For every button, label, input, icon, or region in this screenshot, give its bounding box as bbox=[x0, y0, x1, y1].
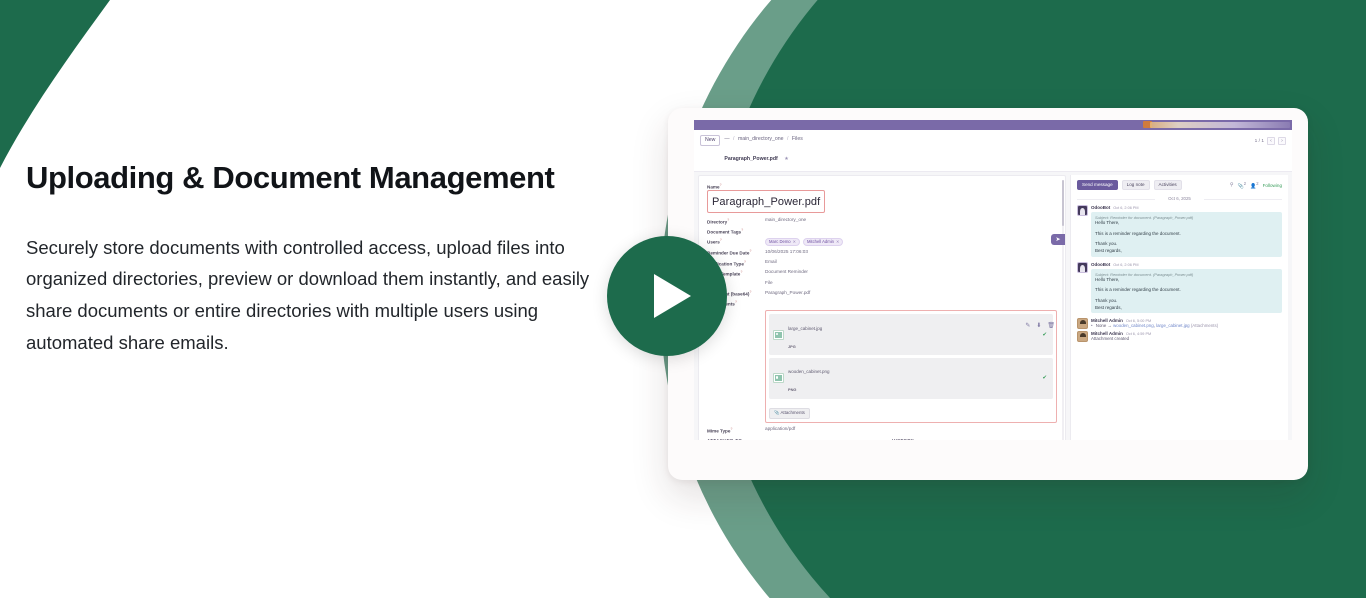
field-value-reminder-due-date[interactable]: 10/06/2025 17:06:03 bbox=[765, 249, 1057, 254]
field-value-notification-type[interactable]: Email bbox=[765, 259, 1057, 264]
label-text: Document Tags bbox=[707, 230, 741, 235]
play-button[interactable] bbox=[607, 236, 727, 356]
breadcrumb: — / main_directory_one / Files Paragraph… bbox=[724, 135, 802, 167]
field-value-document-base64[interactable]: Paragraph_Power.pdf bbox=[765, 290, 1057, 295]
log-text: Attachment created bbox=[1091, 336, 1282, 341]
close-icon[interactable]: ✕ bbox=[836, 239, 839, 244]
label-text: Reminder Due Date bbox=[707, 251, 749, 256]
chatter-panel: Send message Log note Activities ⚲ 📎2 👤2… bbox=[1070, 175, 1288, 440]
avatar[interactable] bbox=[1077, 262, 1088, 273]
field-row-users: Users? Marc Demo ✕ Mitchell Admin ✕ bbox=[707, 238, 1057, 246]
bullet-icon: • bbox=[1091, 323, 1093, 328]
message-body: OdooBot Oct 6, 2:06 PM Subject: Reminder… bbox=[1091, 262, 1282, 314]
attachment-item[interactable]: wooden_cabinet.png PNG ✔ bbox=[769, 358, 1053, 399]
chatter-message: OdooBot Oct 6, 2:06 PM Subject: Reminder… bbox=[1077, 205, 1282, 257]
arrow-icon: → bbox=[1108, 323, 1112, 328]
attachment-name: wooden_cabinet.png bbox=[788, 369, 830, 374]
chatter-tools: ⚲ 📎2 👤2 Following bbox=[1230, 181, 1282, 190]
attachment-name: large_cabinet.jpg bbox=[788, 326, 822, 331]
scrollbar-thumb[interactable] bbox=[1062, 180, 1064, 226]
search-icon[interactable]: ⚲ bbox=[1230, 182, 1234, 188]
user-tag-label: Marc Demo bbox=[769, 239, 791, 244]
message-timestamp: Oct 6, 2:06 PM bbox=[1113, 206, 1138, 210]
form-fields: Name? Paragraph_Power.pdf Directory? mai… bbox=[699, 176, 1065, 440]
message-timestamp: Oct 6, 2:06 PM bbox=[1113, 263, 1138, 267]
sheet-scrollbar[interactable] bbox=[1062, 180, 1064, 440]
add-attachments-button[interactable]: 📎 Attachments bbox=[769, 408, 810, 419]
paperclip-icon: 📎 bbox=[774, 410, 779, 415]
name-label-text: Name bbox=[707, 184, 720, 189]
attachment-type: PNG bbox=[788, 387, 796, 392]
field-label-directory: Directory? bbox=[707, 217, 765, 224]
message-header: OdooBot Oct 6, 2:06 PM bbox=[1091, 205, 1282, 210]
field-row-type: Type? File bbox=[707, 280, 1057, 287]
new-button[interactable]: New bbox=[700, 135, 720, 146]
followers-icon[interactable]: 👤2 bbox=[1250, 181, 1259, 190]
field-row-mime-type: Mime Type? application/pdf bbox=[707, 426, 1057, 433]
user-tag-label: Mitchell Admin bbox=[807, 239, 834, 244]
activities-button[interactable]: Activities bbox=[1154, 180, 1182, 191]
followers-count: 2 bbox=[1256, 181, 1258, 186]
user-tag-list: Marc Demo ✕ Mitchell Admin ✕ bbox=[765, 238, 1057, 246]
breadcrumb-dash: — bbox=[724, 136, 729, 142]
promo-copy: Uploading & Document Management Securely… bbox=[26, 160, 626, 359]
chatter-log-entry: Mitchell Admin Oct 6, 4:59 PM Attachment… bbox=[1077, 331, 1282, 342]
field-value-mime-type: application/pdf bbox=[765, 426, 1057, 431]
form-body: ➤ Name? Paragraph_Power.pdf Directory? m… bbox=[694, 172, 1292, 440]
field-row-reminder-due-date: Reminder Due Date? 10/06/2025 17:06:03 bbox=[707, 249, 1057, 256]
promo-description: Securely store documents with controlled… bbox=[26, 232, 606, 359]
avatar[interactable] bbox=[1077, 331, 1088, 342]
breadcrumb-item-files[interactable]: Files bbox=[792, 136, 803, 142]
message-body: Mitchell Admin Oct 6, 5:00 PM • None → w… bbox=[1091, 318, 1282, 329]
form-sheet: ➤ Name? Paragraph_Power.pdf Directory? m… bbox=[698, 175, 1066, 440]
attachment-meta: wooden_cabinet.png PNG bbox=[788, 360, 830, 396]
label-text: Mime Type bbox=[707, 428, 730, 433]
field-label-reminder-due-date: Reminder Due Date? bbox=[707, 249, 765, 256]
odoo-app-screenshot: New — / main_directory_one / Files Parag… bbox=[694, 120, 1292, 440]
message-bubble: Subject: Reminder for document. (Paragra… bbox=[1091, 212, 1282, 257]
page-title: Uploading & Document Management bbox=[26, 160, 626, 196]
attachment-count: 2 bbox=[1244, 181, 1246, 186]
paperclip-icon[interactable]: 📎2 bbox=[1238, 181, 1247, 190]
attachments-list: large_cabinet.jpg JPG ✔ wooden_cabinet.p… bbox=[765, 310, 1057, 423]
form-bottom-columns: ATTACHED TO Resource Model? Resource Fie… bbox=[707, 438, 1057, 440]
field-value-users: Marc Demo ✕ Mitchell Admin ✕ bbox=[765, 238, 1057, 246]
label-text: Directory bbox=[707, 219, 727, 224]
field-row-document-tags: Document Tags? bbox=[707, 227, 1057, 234]
play-triangle-icon bbox=[654, 274, 691, 318]
pager-count: 1 / 1 bbox=[1255, 139, 1264, 144]
message-author: OdooBot bbox=[1091, 262, 1110, 267]
document-actions: ✎ ⬇ 🗑 bbox=[1025, 322, 1055, 329]
check-icon: ✔ bbox=[1042, 375, 1047, 381]
attachment-link[interactable]: large_cabinet.jpg bbox=[1156, 323, 1189, 328]
star-icon[interactable]: ★ bbox=[784, 156, 788, 162]
field-value-email-template[interactable]: Document Reminder bbox=[765, 269, 1057, 274]
history-title: HISTORY bbox=[892, 438, 1057, 440]
field-row-email-template: Email Template? Document Reminder bbox=[707, 269, 1057, 276]
attachment-item[interactable]: large_cabinet.jpg JPG ✔ bbox=[769, 314, 1053, 355]
field-row-directory: Directory? main_directory_one bbox=[707, 217, 1057, 224]
field-row-attachments: Attachments? bbox=[707, 300, 1057, 307]
edit-icon[interactable]: ✎ bbox=[1025, 322, 1030, 329]
field-label-document-tags: Document Tags? bbox=[707, 227, 765, 234]
message-body: Mitchell Admin Oct 6, 4:59 PM Attachment… bbox=[1091, 331, 1282, 342]
field-value-directory[interactable]: main_directory_one bbox=[765, 217, 1057, 222]
send-message-button[interactable]: Send message bbox=[1077, 180, 1118, 191]
chatter-message: OdooBot Oct 6, 2:06 PM Subject: Reminder… bbox=[1077, 262, 1282, 314]
chatter-toolbar: Send message Log note Activities ⚲ 📎2 👤2… bbox=[1077, 180, 1282, 191]
image-file-icon bbox=[773, 330, 784, 340]
breadcrumb-item-directory[interactable]: main_directory_one bbox=[738, 136, 784, 142]
add-attachments-label: Attachments bbox=[780, 410, 804, 415]
navbar-right-region bbox=[1150, 122, 1290, 128]
message-timestamp: Oct 6, 4:59 PM bbox=[1126, 332, 1151, 336]
control-panel: New — / main_directory_one / Files Parag… bbox=[694, 130, 1292, 172]
delete-icon[interactable]: 🗑 bbox=[1047, 322, 1055, 329]
log-note-button[interactable]: Log note bbox=[1122, 180, 1150, 191]
log-tracking-line: • None → wooden_cabinet.png, large_cabin… bbox=[1091, 323, 1282, 328]
user-tag[interactable]: Mitchell Admin ✕ bbox=[803, 238, 843, 246]
history-section: HISTORY Creation? mitchell admin on 10/0… bbox=[882, 438, 1057, 440]
link-separator: , bbox=[1154, 323, 1155, 328]
avatar[interactable] bbox=[1077, 205, 1088, 216]
log-prefix: None bbox=[1096, 323, 1107, 328]
share-icon[interactable]: ➤ bbox=[1051, 234, 1065, 245]
download-icon[interactable]: ⬇ bbox=[1036, 322, 1041, 329]
message-line: Best regards, bbox=[1095, 305, 1278, 310]
chatter-log-entry: Mitchell Admin Oct 6, 5:00 PM • None → w… bbox=[1077, 318, 1282, 329]
pager-next-button[interactable]: › bbox=[1278, 137, 1286, 145]
chatter-date-divider: Oct 6, 2025 bbox=[1077, 196, 1282, 201]
image-file-icon bbox=[773, 373, 784, 383]
breadcrumb-separator-1: / bbox=[733, 136, 734, 142]
record-name: Paragraph_Power.pdf bbox=[724, 156, 777, 162]
field-label-users: Users? bbox=[707, 238, 765, 245]
message-body: OdooBot Oct 6, 2:06 PM Subject: Reminder… bbox=[1091, 205, 1282, 257]
attached-to-title: ATTACHED TO bbox=[707, 438, 882, 440]
check-icon: ✔ bbox=[1042, 332, 1047, 338]
message-line: Best regards, bbox=[1095, 248, 1278, 253]
breadcrumb-path: — / main_directory_one / Files bbox=[724, 136, 802, 144]
field-row-notification-type: Notification Type? Email bbox=[707, 259, 1057, 266]
name-input[interactable]: Paragraph_Power.pdf bbox=[707, 190, 825, 213]
label-text: Users bbox=[707, 240, 720, 245]
message-bubble: Subject: Reminder for document. (Paragra… bbox=[1091, 269, 1282, 314]
breadcrumb-record: Paragraph_Power.pdf ★ bbox=[724, 144, 802, 167]
field-label-mime-type: Mime Type? bbox=[707, 426, 765, 433]
avatar[interactable] bbox=[1077, 318, 1088, 329]
field-value-type[interactable]: File bbox=[765, 280, 1057, 285]
field-row-document-base64: Document (base64)? Paragraph_Power.pdf bbox=[707, 290, 1057, 297]
following-button[interactable]: Following bbox=[1263, 183, 1282, 188]
name-field-label: Name? bbox=[707, 183, 1057, 190]
attached-to-section: ATTACHED TO Resource Model? Resource Fie… bbox=[707, 438, 882, 440]
message-header: OdooBot Oct 6, 2:06 PM bbox=[1091, 262, 1282, 267]
close-icon[interactable]: ✕ bbox=[793, 239, 796, 244]
attachment-type: JPG bbox=[788, 344, 796, 349]
pager-previous-button[interactable]: ‹ bbox=[1267, 137, 1275, 145]
attachment-meta: large_cabinet.jpg JPG bbox=[788, 317, 822, 353]
log-suffix: (Attachments) bbox=[1191, 323, 1218, 328]
name-value: Paragraph_Power.pdf bbox=[712, 196, 820, 208]
record-pager: 1 / 1 ‹ › bbox=[1255, 137, 1286, 145]
video-preview-card[interactable]: New — / main_directory_one / Files Parag… bbox=[668, 108, 1308, 480]
user-tag[interactable]: Marc Demo ✕ bbox=[765, 238, 800, 246]
message-author: OdooBot bbox=[1091, 205, 1110, 210]
breadcrumb-separator-2: / bbox=[787, 136, 788, 142]
attachment-link[interactable]: wooden_cabinet.png bbox=[1113, 323, 1154, 328]
odoo-navbar bbox=[694, 120, 1292, 130]
